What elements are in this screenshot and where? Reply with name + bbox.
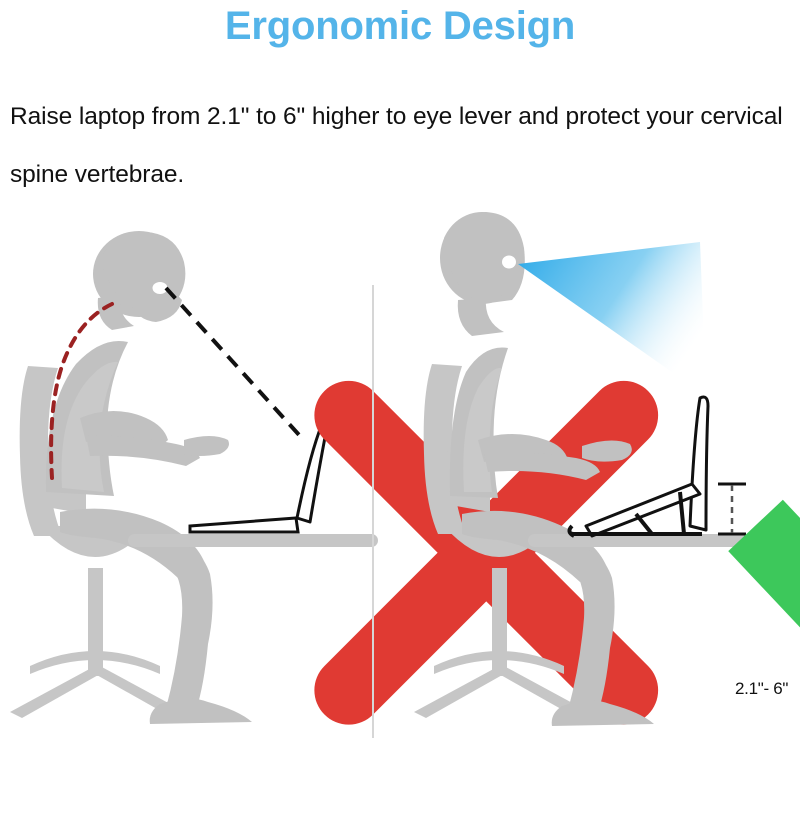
red-x-icon — [280, 288, 344, 352]
panel-divider — [372, 285, 374, 738]
header: Ergonomic Design Raise laptop from 2.1" … — [0, 0, 800, 196]
ergonomic-design-page: Ergonomic Design Raise laptop from 2.1" … — [0, 0, 800, 738]
body-description: Raise laptop from 2.1" to 6" higher to e… — [10, 88, 792, 204]
panel-incorrect-posture — [0, 196, 400, 738]
panel-correct-posture — [400, 196, 800, 738]
page-title: Ergonomic Design — [0, 4, 800, 48]
height-dimension-label: 2.1"- 6" — [735, 679, 788, 699]
human-figure-left — [46, 231, 252, 724]
illustration-area: 2.1"- 6" — [0, 196, 800, 738]
eye-right-figure — [502, 256, 516, 269]
sight-cone-correct — [518, 242, 706, 396]
green-check-icon — [725, 288, 789, 352]
eye-left-figure — [153, 282, 168, 294]
